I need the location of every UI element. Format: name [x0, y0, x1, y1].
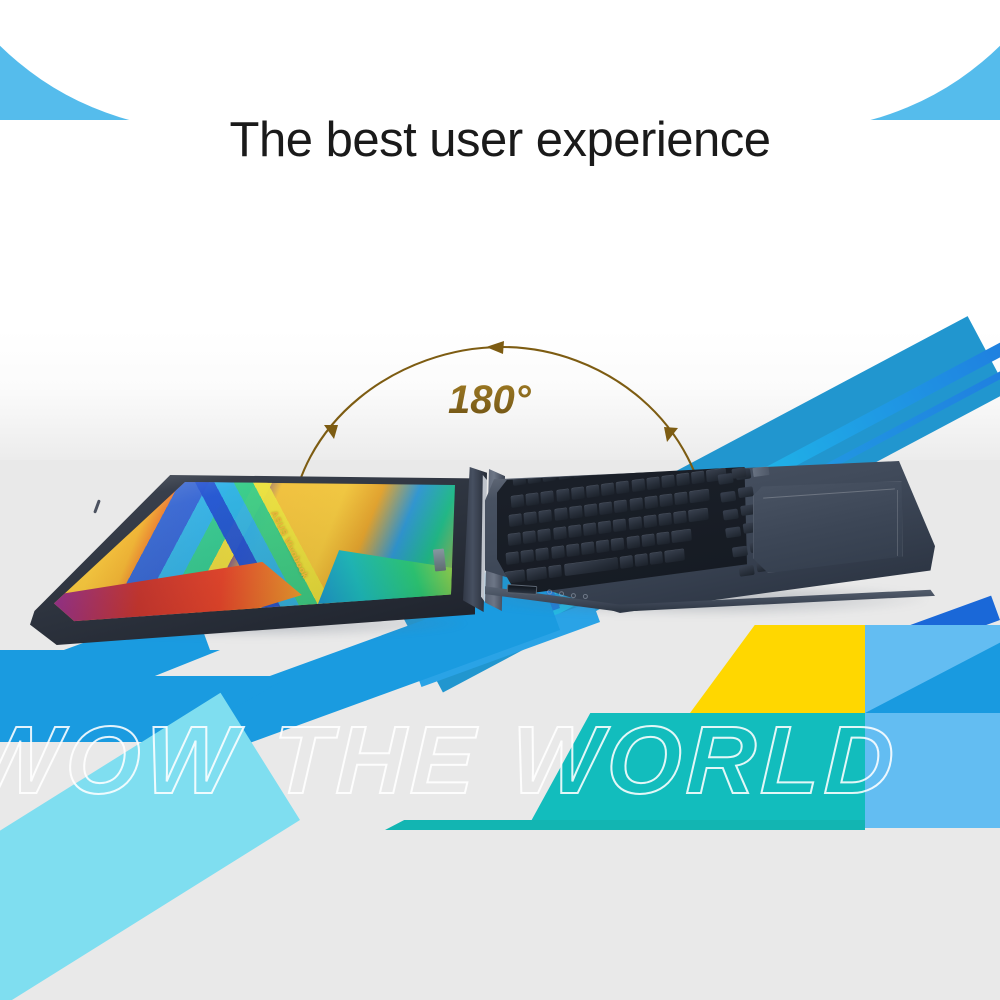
keyboard-key [603, 467, 617, 474]
keyboard-key [599, 501, 613, 515]
sky-blue-color-block-lower [865, 713, 1000, 823]
keyboard-key [571, 486, 585, 500]
white-dome-arc [0, 0, 1000, 130]
keyboard-key [673, 511, 687, 525]
keyboard-key [613, 518, 627, 532]
keyboard-key [626, 535, 640, 549]
keyboard-key [505, 569, 526, 584]
keyboard-key [536, 547, 550, 561]
laptop-keyboard-deck [485, 455, 935, 645]
port-indicator-icon [559, 591, 564, 596]
keyboard-key [739, 565, 755, 577]
keyboard-key [644, 495, 658, 509]
keyboard-key [628, 516, 642, 530]
keyboard-key [616, 480, 630, 494]
keyboard-key [506, 551, 520, 565]
touchpad-seam [757, 485, 901, 571]
keyboard-key [508, 532, 522, 546]
keyboard-key [691, 471, 705, 485]
arrowhead-apex [486, 341, 504, 354]
keyboard-key [725, 526, 741, 538]
keyboard-key [738, 486, 754, 498]
keyboard-key [581, 541, 595, 555]
keyboard-key [541, 490, 555, 504]
keyboard-key [554, 507, 568, 521]
keyboard-key [564, 557, 618, 576]
keyboard-key [596, 539, 610, 553]
keyboard-key [688, 508, 709, 523]
keyboard-key [633, 467, 647, 470]
keyboard-key [634, 553, 648, 567]
keyboard-key [619, 555, 633, 569]
port-indicator-icon [583, 594, 588, 599]
keyboard-key [629, 497, 643, 511]
keyboard-key [513, 475, 527, 486]
laptop-product-image: ASUS Vivobook [30, 455, 930, 645]
keyboard-key [641, 533, 655, 547]
keyboard-key [528, 473, 542, 484]
keyboard-key [551, 545, 565, 559]
keyboard-key [674, 492, 688, 506]
keyboard-key [648, 467, 662, 468]
keyboard-key [583, 522, 597, 536]
keyboard-key [553, 526, 567, 540]
keyboard-key [656, 531, 670, 545]
keyboard-key [584, 503, 598, 517]
marketing-banner: WOW THE WORLD The best user experience [0, 0, 1000, 1000]
keyboard-key [568, 524, 582, 538]
keyboard-key [549, 565, 563, 579]
keyboard-key [732, 546, 748, 558]
keyboard-key [524, 511, 538, 525]
keyboard-key [614, 499, 628, 513]
headline-container: The best user experience [0, 112, 1000, 168]
keyboard-key [601, 482, 615, 496]
keyboard-key [723, 509, 739, 521]
keyboard-key [527, 567, 548, 582]
keyboard-key [611, 537, 625, 551]
keyboard-key [569, 505, 583, 519]
keyboard-key [658, 512, 672, 526]
keyboard-key [661, 474, 675, 488]
angle-value-label: 180° [448, 378, 531, 423]
keyboard-key [511, 494, 525, 508]
keyboard-key [649, 551, 663, 565]
keyboard-key [618, 467, 632, 472]
laptop-display-panel: ASUS Vivobook [30, 475, 475, 650]
keyboard-key [566, 543, 580, 557]
port-indicator-icon [571, 593, 576, 598]
keyboard-key [526, 492, 540, 506]
keyboard-key [676, 473, 690, 487]
keyboard-key [556, 488, 570, 502]
arrowhead-right-mid [664, 427, 678, 442]
keyboard-key [539, 509, 553, 523]
keyboard-key [720, 491, 736, 503]
keyboard-key [664, 548, 685, 563]
keyboard-key [598, 520, 612, 534]
keyboard-key [523, 530, 537, 544]
keyboard-key [689, 489, 710, 504]
keyboard-key [573, 467, 587, 478]
keyboard-key [659, 493, 673, 507]
keyboard-key [671, 529, 692, 544]
sky-blue-strip-edge [865, 820, 1000, 828]
keyboard-key [646, 476, 660, 490]
teal-strip-edge [385, 820, 865, 830]
keyboard-key [631, 478, 645, 492]
port-indicator-icon [547, 589, 552, 594]
keyboard-key [538, 528, 552, 542]
asus-logo-icon [433, 548, 446, 571]
keyboard-key [509, 513, 523, 527]
keyboard-key [643, 514, 657, 528]
page-title: The best user experience [230, 113, 771, 167]
keyboard-key [586, 484, 600, 498]
webcam [93, 499, 101, 513]
power-button-icon [731, 467, 746, 479]
keyboard-key [521, 549, 535, 563]
keyboard-key [558, 469, 572, 480]
